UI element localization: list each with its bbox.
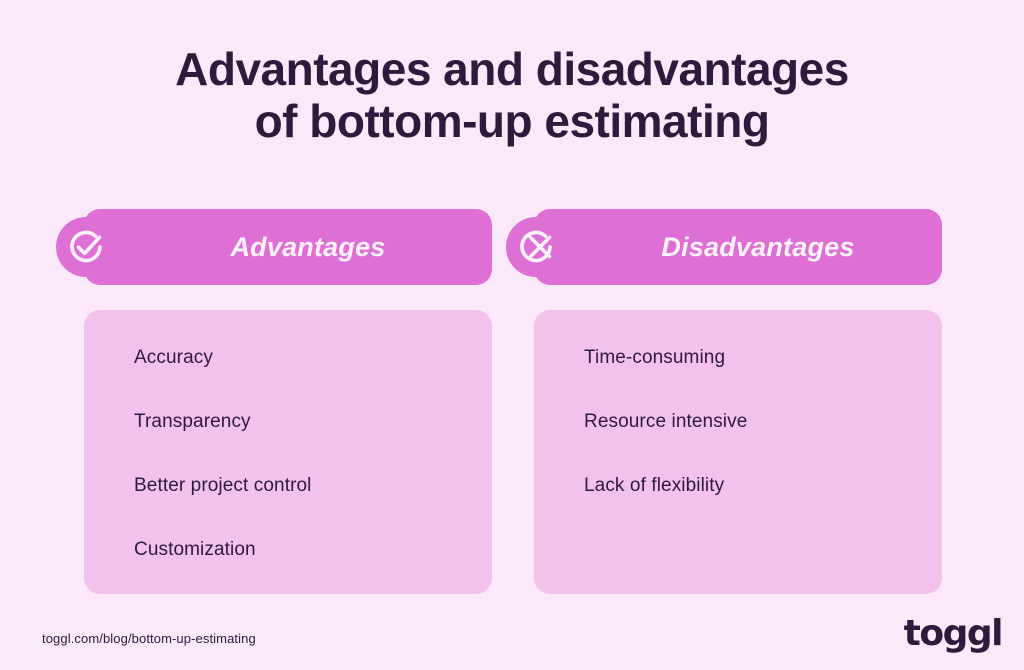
circle-check-icon [56, 217, 116, 277]
source-url: toggl.com/blog/bottom-up-estimating [42, 631, 256, 646]
column-advantages: Advantages Accuracy Transparency Better … [56, 203, 492, 291]
disadvantages-pill: Disadvantages [534, 209, 942, 285]
toggl-logo: toggl [904, 616, 1002, 652]
circle-cross-icon [506, 217, 566, 277]
advantages-card: Accuracy Transparency Better project con… [84, 310, 492, 594]
advantages-header: Advantages [56, 203, 492, 291]
list-item: Customization [134, 540, 492, 559]
list-item: Accuracy [134, 348, 492, 367]
page-title: Advantages and disadvantages of bottom-u… [0, 44, 1024, 148]
column-disadvantages: Disadvantages Time-consuming Resource in… [506, 203, 942, 291]
advantages-pill: Advantages [84, 209, 492, 285]
list-item: Transparency [134, 412, 492, 431]
list-item: Lack of flexibility [584, 476, 942, 495]
list-item: Resource intensive [584, 412, 942, 431]
disadvantages-card: Time-consuming Resource intensive Lack o… [534, 310, 942, 594]
list-item: Better project control [134, 476, 492, 495]
infographic-page: { "title": "Advantages and disadvantages… [0, 0, 1024, 670]
disadvantages-label: Disadvantages [621, 232, 854, 263]
list-item: Time-consuming [584, 348, 942, 367]
disadvantages-header: Disadvantages [506, 203, 942, 291]
advantages-label: Advantages [190, 232, 385, 263]
